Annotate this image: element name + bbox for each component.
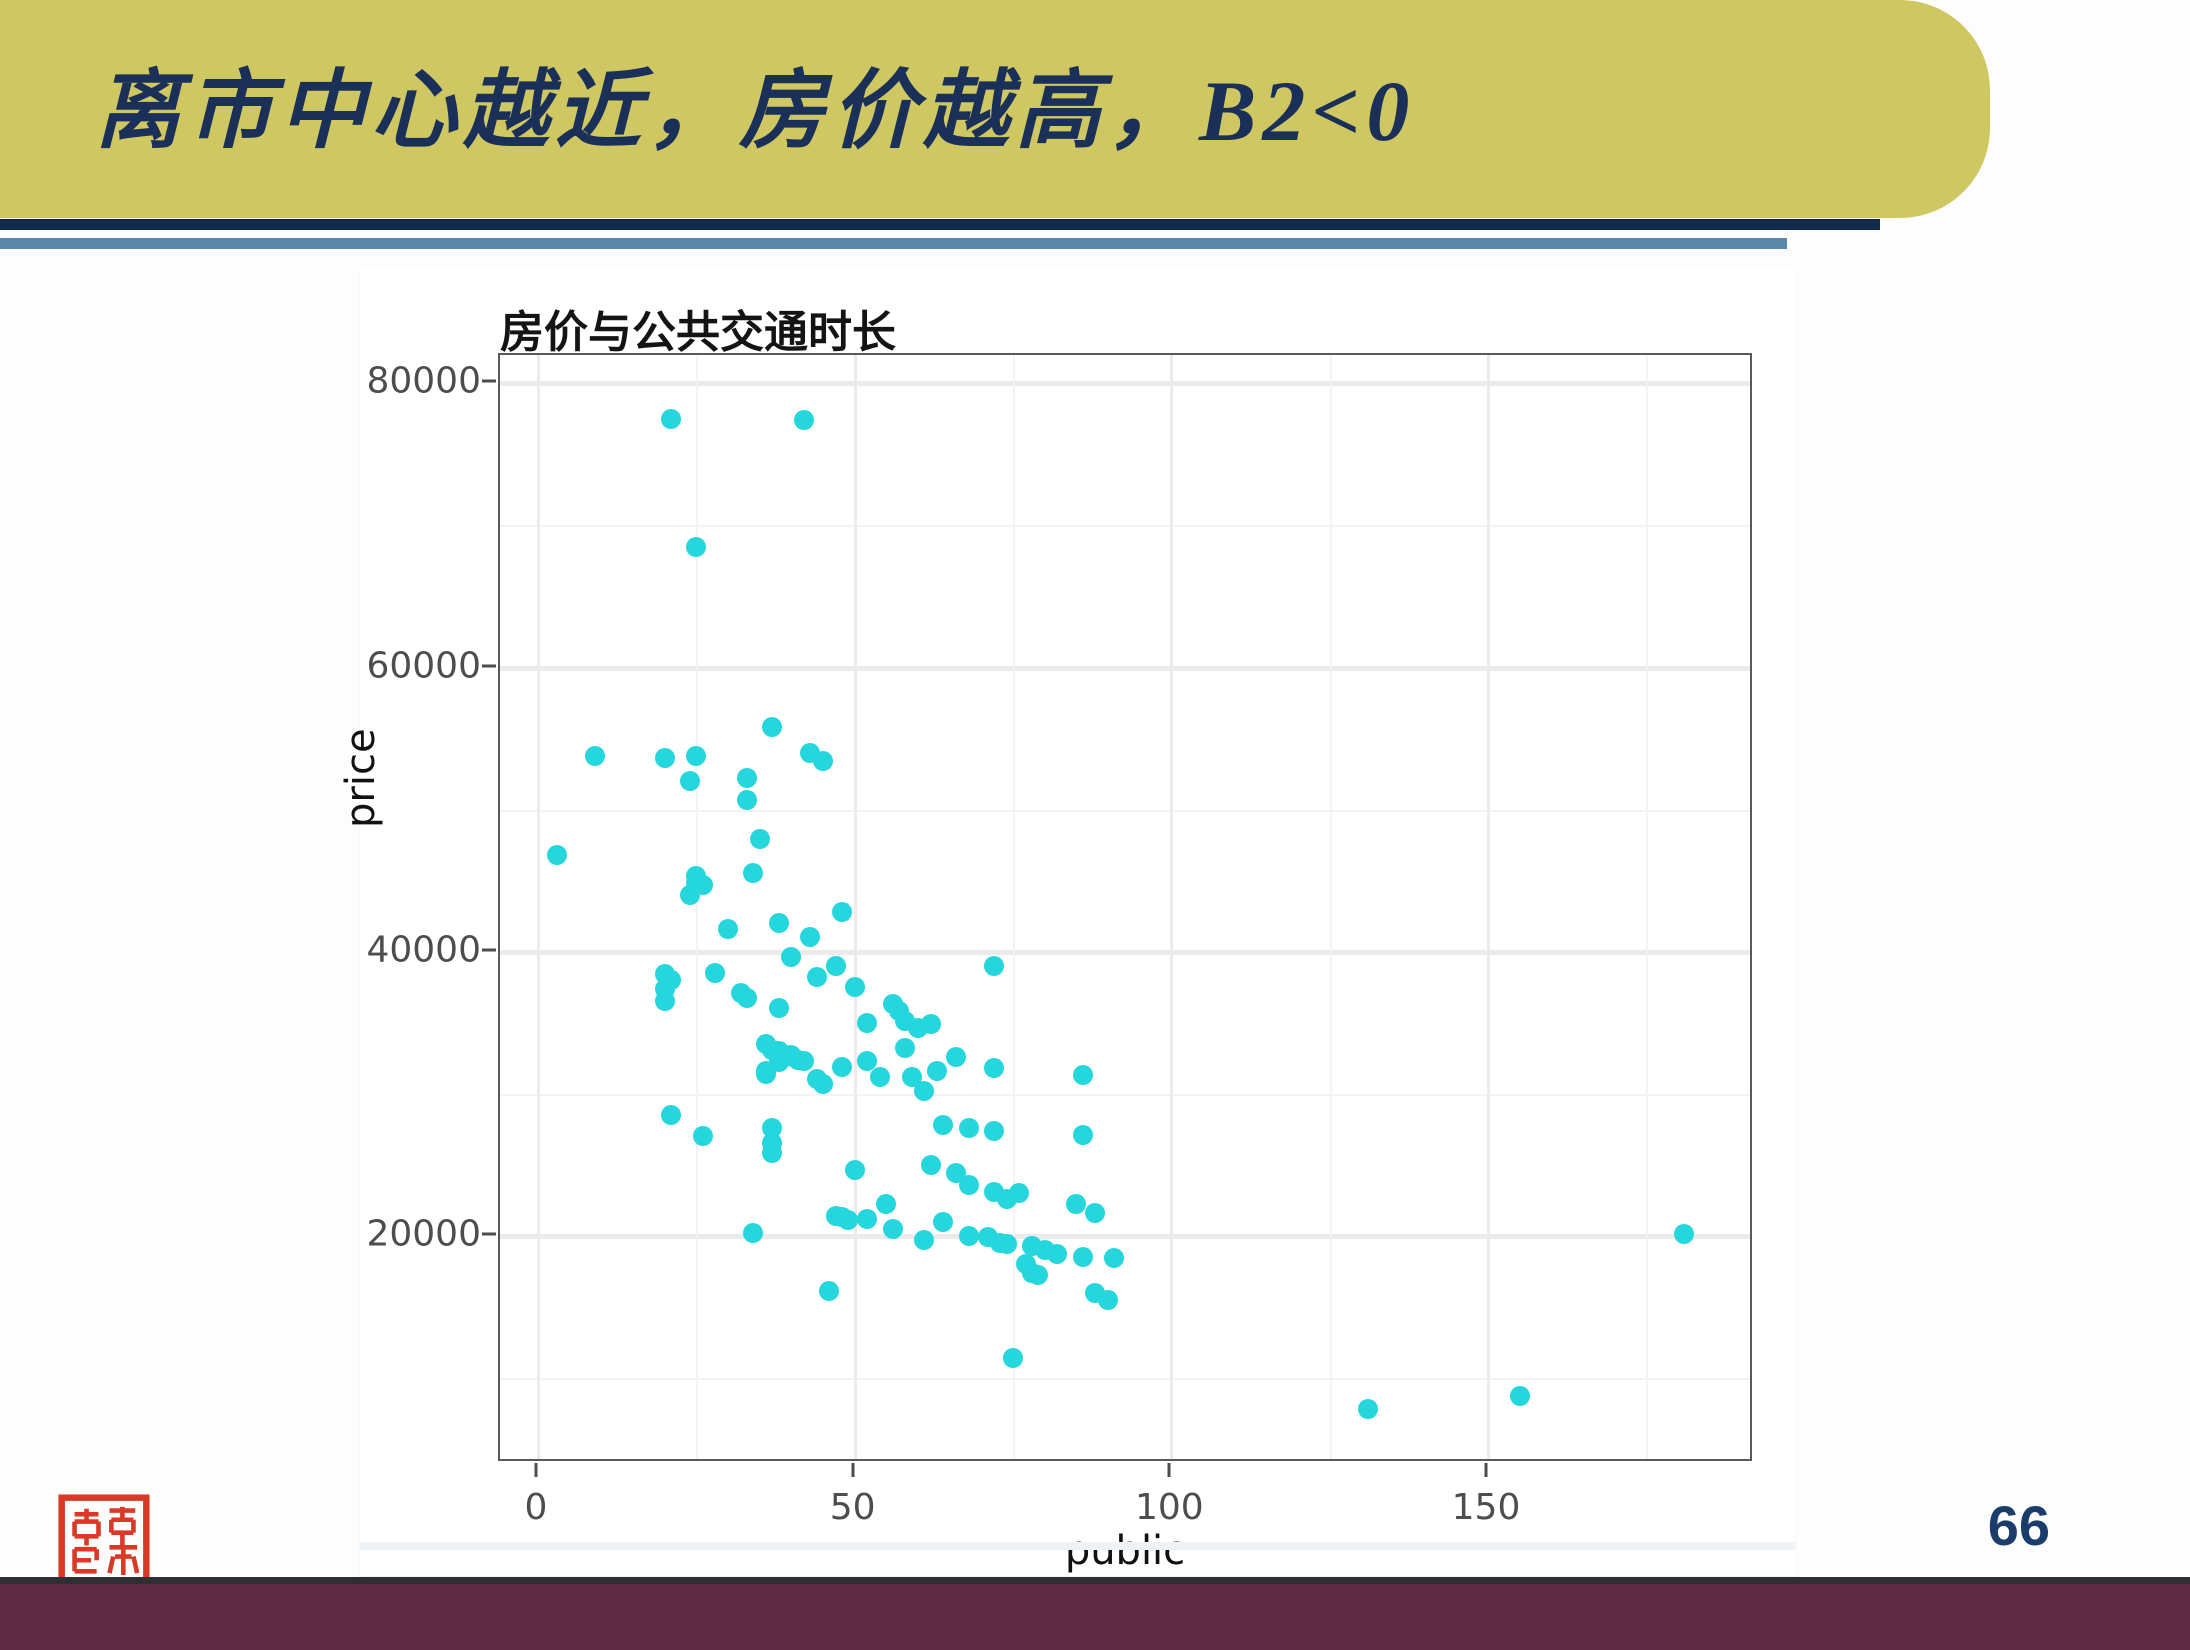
scatter-point [1104,1248,1124,1268]
footer-bar [0,1577,2190,1650]
scatter-point [737,988,757,1008]
chart-image: 房价与公共交通时长 public price 20000400006000080… [360,268,1795,1576]
scatter-point [794,1051,814,1071]
scatter-point [819,1281,839,1301]
gridline-major-vertical [1170,355,1173,1459]
scatter-point [762,717,782,737]
scatter-point [984,1058,1004,1078]
plot-panel [498,353,1752,1461]
gridline-minor-vertical [1330,355,1332,1459]
scatter-point [737,790,757,810]
scatter-point [762,1143,782,1163]
divider-navy [0,219,1880,230]
scatter-point [1073,1065,1093,1085]
y-tick-mark [482,664,496,667]
gridline-minor-horizontal [500,1094,1750,1096]
scatter-point [933,1115,953,1135]
scatter-point [984,956,1004,976]
gridline-minor-horizontal [500,525,1750,527]
gridline-minor-vertical [696,355,698,1459]
y-tick-mark [482,948,496,951]
gridline-major-horizontal [500,381,1750,386]
gridline-minor-horizontal [500,1378,1750,1380]
x-tick-label: 100 [1135,1487,1204,1528]
scatter-point [769,998,789,1018]
scatter-point [1073,1247,1093,1267]
scatter-point [756,1064,776,1084]
scatter-point [1674,1224,1694,1244]
scatter-point [1066,1194,1086,1214]
scatter-point [933,1212,953,1232]
gridline-minor-horizontal [500,810,1750,812]
y-tick-mark [482,1232,496,1235]
scatter-point [914,1081,934,1101]
y-axis-title: price [338,728,384,828]
x-tick-mark [535,1463,538,1477]
scatter-point [813,751,833,771]
y-tick-label: 20000 [366,1213,481,1254]
scatter-point [826,956,846,976]
y-tick-label: 40000 [366,929,481,970]
scatter-point [984,1121,1004,1141]
scatter-point [895,1038,915,1058]
scatter-point [1009,1183,1029,1203]
scatter-point [585,746,605,766]
scatter-point [547,845,567,865]
scatter-point [927,1061,947,1081]
scatter-point [845,977,865,997]
gridline-major-vertical [1487,355,1490,1459]
scatter-point [1510,1386,1530,1406]
x-tick-mark [1168,1463,1171,1477]
x-axis-title: public [498,1528,1752,1574]
scatter-point [781,947,801,967]
y-tick-label: 60000 [366,645,481,686]
scatter-point [737,768,757,788]
scatter-point [680,771,700,791]
divider-steel [0,238,1787,249]
scatter-point [832,1057,852,1077]
scatter-point [921,1155,941,1175]
scatter-point [743,863,763,883]
scatter-point [743,1223,763,1243]
scatter-point [718,919,738,939]
scatter-point [959,1175,979,1195]
scatter-point [693,1126,713,1146]
scatter-point [655,748,675,768]
scatter-point [1028,1265,1048,1285]
y-tick-mark [482,380,496,383]
scatter-point [1098,1290,1118,1310]
scatter-point [807,967,827,987]
scatter-point [1073,1125,1093,1145]
scatter-point [1358,1399,1378,1419]
gridline-major-horizontal [500,950,1750,955]
chart-title: 房价与公共交通时长 [500,296,896,360]
scatter-point [661,1105,681,1125]
x-tick-mark [851,1463,854,1477]
scatter-point [1047,1244,1067,1264]
gridline-minor-vertical [1646,355,1648,1459]
scatter-point [686,746,706,766]
scatter-point [959,1226,979,1246]
scatter-point [832,902,852,922]
scatter-point [705,963,725,983]
scatter-point [769,913,789,933]
scatter-point [845,1160,865,1180]
scatter-point [997,1234,1017,1254]
scatter-point [794,410,814,430]
scatter-point [813,1074,833,1094]
gridline-major-vertical [854,355,857,1459]
scatter-point [883,1219,903,1239]
y-tick-label: 80000 [366,361,481,402]
gridline-minor-vertical [1013,355,1015,1459]
gridline-major-horizontal [500,1234,1750,1239]
x-tick-label: 50 [830,1487,876,1528]
scatter-point [1003,1348,1023,1368]
gridline-major-vertical [537,355,540,1459]
x-tick-label: 0 [525,1487,548,1528]
x-tick-label: 150 [1452,1487,1521,1528]
scatter-point [921,1014,941,1034]
page-title: 离市中心越近，房价越高，B2<0 [95,40,1415,165]
scatter-point [946,1047,966,1067]
x-tick-mark [1485,1463,1488,1477]
scatter-point [876,1194,896,1214]
scatter-point [800,927,820,947]
scatter-point [655,991,675,1011]
scatter-point [693,875,713,895]
scatter-point [750,829,770,849]
red-seal-stamp [58,1494,150,1586]
scatter-point [857,1209,877,1229]
slide-number: 66 [1988,1493,2050,1558]
gridline-major-horizontal [500,666,1750,671]
scatter-point [959,1118,979,1138]
scatter-point [914,1230,934,1250]
scatter-point [870,1067,890,1087]
chart-bottom-edge [360,1542,1795,1550]
scatter-point [686,537,706,557]
scatter-point [857,1013,877,1033]
scatter-point [661,409,681,429]
scatter-point [1085,1203,1105,1223]
